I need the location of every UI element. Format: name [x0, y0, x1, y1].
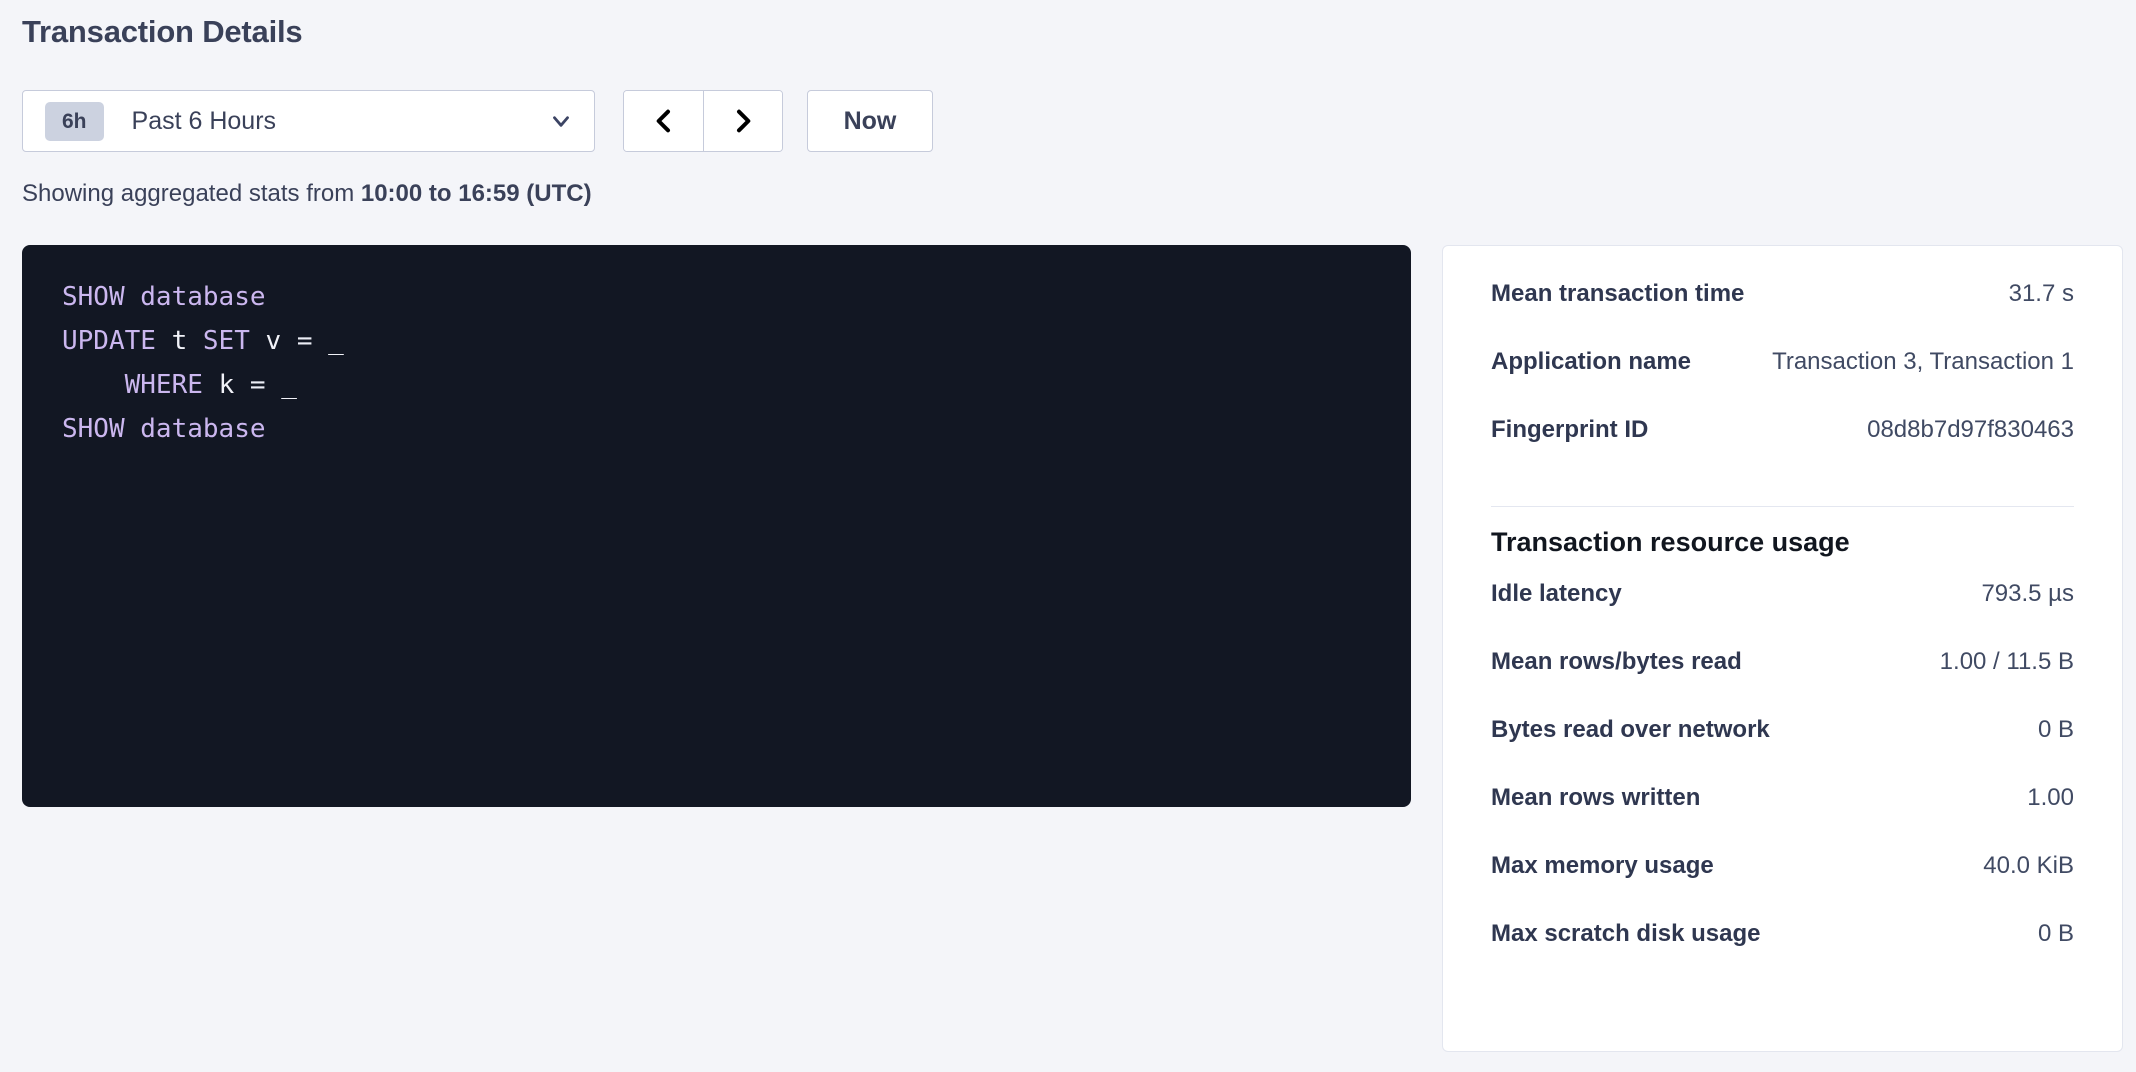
- code-line: UPDATE t SET v = _: [62, 319, 1371, 363]
- now-button[interactable]: Now: [807, 90, 933, 152]
- code-token: _: [328, 326, 344, 356]
- transaction-details-page: Transaction Details 6h Past 6 Hours Now: [0, 0, 2136, 1072]
- previous-period-button[interactable]: [624, 91, 703, 151]
- detail-row-label: Application name: [1491, 348, 1691, 376]
- code-token: [187, 326, 203, 356]
- code-token: v: [266, 326, 282, 356]
- detail-row: Max memory usage40.0 KiB: [1491, 852, 2074, 920]
- code-token: _: [281, 370, 297, 400]
- chevron-right-icon: [727, 105, 759, 137]
- detail-row: Fingerprint ID08d8b7d97f830463: [1491, 416, 2074, 484]
- detail-row-label: Max memory usage: [1491, 852, 1714, 880]
- sql-statement-code: SHOW databaseUPDATE t SET v = _ WHERE k …: [22, 275, 1411, 451]
- detail-row-value: 1.00: [2009, 784, 2074, 812]
- code-token: SHOW: [62, 414, 125, 444]
- time-nav-group: [623, 90, 783, 152]
- code-token: [250, 326, 266, 356]
- code-token: [156, 326, 172, 356]
- time-range-label: Past 6 Hours: [132, 107, 548, 136]
- code-token: SHOW: [62, 282, 125, 312]
- detail-row: Mean rows written1.00: [1491, 784, 2074, 852]
- detail-row-value: 0 B: [2020, 920, 2074, 948]
- detail-row-label: Max scratch disk usage: [1491, 920, 1760, 948]
- code-token: database: [140, 414, 265, 444]
- code-token: [281, 326, 297, 356]
- detail-row: Bytes read over network0 B: [1491, 716, 2074, 784]
- code-token: [312, 326, 328, 356]
- detail-row-label: Mean rows written: [1491, 784, 1700, 812]
- aggregation-period-range: 10:00 to 16:59 (UTC): [361, 180, 592, 207]
- card-divider: [1491, 506, 2074, 507]
- code-token: [234, 370, 250, 400]
- detail-row: Idle latency793.5 µs: [1491, 580, 2074, 648]
- code-token: WHERE: [125, 370, 203, 400]
- detail-row-value: 793.5 µs: [1963, 580, 2074, 608]
- time-range-badge: 6h: [45, 102, 104, 141]
- code-token: [62, 370, 125, 400]
- aggregation-period-prefix: Showing aggregated stats from: [22, 180, 361, 207]
- detail-row-value: 0 B: [2020, 716, 2074, 744]
- detail-row-value: Transaction 3, Transaction 1: [1754, 348, 2074, 376]
- page-title: Transaction Details: [22, 14, 302, 50]
- chevron-down-icon: [548, 108, 574, 134]
- code-token: =: [297, 326, 313, 356]
- sql-statement-block[interactable]: SHOW databaseUPDATE t SET v = _ WHERE k …: [22, 245, 1411, 807]
- next-period-button[interactable]: [703, 91, 782, 151]
- detail-row-label: Bytes read over network: [1491, 716, 1770, 744]
- transaction-details-card: Mean transaction time31.7 sApplication n…: [1442, 245, 2123, 1052]
- detail-row-label: Fingerprint ID: [1491, 416, 1648, 444]
- detail-row-value: 31.7 s: [1991, 280, 2074, 308]
- code-line: WHERE k = _: [62, 363, 1371, 407]
- code-token: t: [172, 326, 188, 356]
- time-controls: 6h Past 6 Hours Now: [22, 90, 933, 152]
- overview-rows: Mean transaction time31.7 sApplication n…: [1491, 280, 2074, 484]
- detail-row: Application nameTransaction 3, Transacti…: [1491, 348, 2074, 416]
- detail-row: Max scratch disk usage0 B: [1491, 920, 2074, 988]
- detail-row-value: 08d8b7d97f830463: [1849, 416, 2074, 444]
- code-line: SHOW database: [62, 275, 1371, 319]
- detail-row-value: 1.00 / 11.5 B: [1922, 648, 2074, 676]
- chevron-left-icon: [648, 105, 680, 137]
- code-token: [203, 370, 219, 400]
- aggregation-period-text: Showing aggregated stats from 10:00 to 1…: [22, 180, 592, 208]
- time-range-select[interactable]: 6h Past 6 Hours: [22, 90, 595, 152]
- detail-row-label: Idle latency: [1491, 580, 1622, 608]
- detail-row: Mean transaction time31.7 s: [1491, 280, 2074, 348]
- code-token: [125, 414, 141, 444]
- detail-row-value: 40.0 KiB: [1965, 852, 2074, 880]
- code-token: k: [219, 370, 235, 400]
- resource-rows: Idle latency793.5 µsMean rows/bytes read…: [1491, 580, 2074, 988]
- detail-row-label: Mean transaction time: [1491, 280, 1744, 308]
- resource-usage-title: Transaction resource usage: [1491, 527, 2074, 558]
- detail-row-label: Mean rows/bytes read: [1491, 648, 1742, 676]
- code-token: =: [250, 370, 266, 400]
- code-token: UPDATE: [62, 326, 156, 356]
- code-token: database: [140, 282, 265, 312]
- code-token: [266, 370, 282, 400]
- code-token: [125, 282, 141, 312]
- code-line: SHOW database: [62, 407, 1371, 451]
- code-token: SET: [203, 326, 250, 356]
- detail-row: Mean rows/bytes read1.00 / 11.5 B: [1491, 648, 2074, 716]
